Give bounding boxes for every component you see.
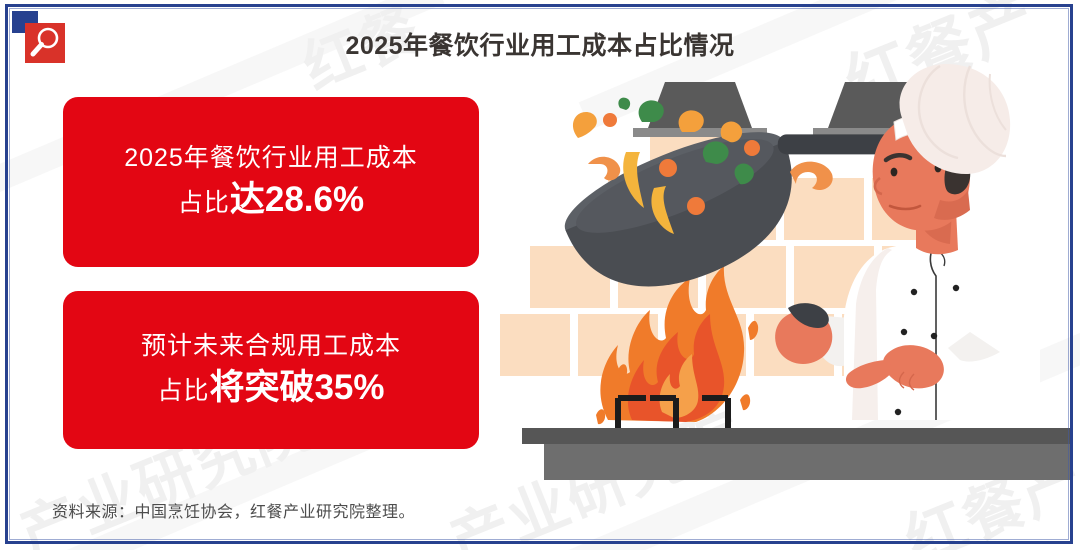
magnifier-icon xyxy=(25,23,65,63)
stat-card-value-prefix: 占比 xyxy=(157,377,209,405)
stat-card-value-prefix: 占比 xyxy=(178,189,230,217)
stat-card-future-cost: 预计未来合规用工成本 占比将突破35% xyxy=(63,291,479,449)
stat-card-value-row: 占比将突破35% xyxy=(157,370,384,407)
stat-card-value-row: 占比达28.6% xyxy=(178,182,364,219)
brand-logo xyxy=(12,11,76,69)
illustration-chef-cooking xyxy=(500,60,1070,480)
stat-card-label: 2025年餐饮行业用工成本 xyxy=(124,145,418,173)
infographic-canvas: 红餐产 红餐 产业研究院 产业研究院 红餐产 xyxy=(0,0,1080,550)
page-title: 2025年餐饮行业用工成本占比情况 xyxy=(0,26,1080,62)
stat-card-value: 达28.6% xyxy=(230,180,364,219)
stat-card-label: 预计未来合规用工成本 xyxy=(141,333,401,361)
stat-card-current-cost: 2025年餐饮行业用工成本 占比达28.6% xyxy=(63,97,479,267)
counter xyxy=(522,428,1070,480)
source-note: 资料来源：中国烹饪协会，红餐产业研究院整理。 xyxy=(52,498,415,522)
stat-card-value: 将突破35% xyxy=(209,368,384,407)
